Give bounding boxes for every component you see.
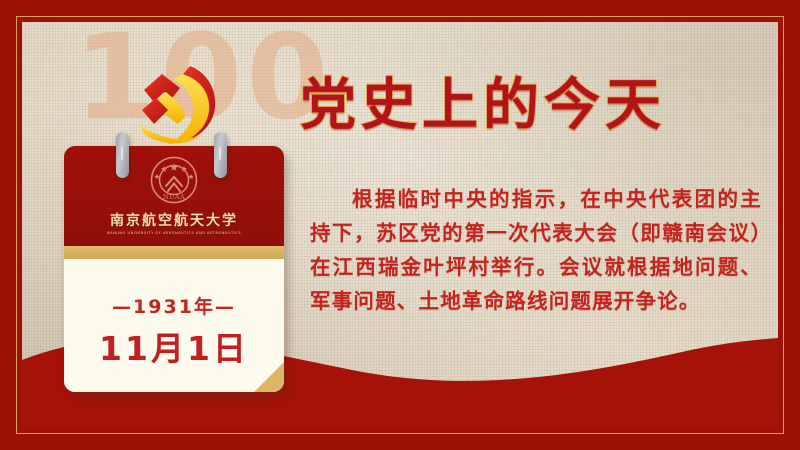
calendar-binder-clip-right <box>214 132 227 178</box>
page-title: 党史上的今天 <box>300 60 666 141</box>
calendar-card: NUAA 南京航空航天大学 NANJING UNIVERSITY OF AERO… <box>64 132 284 394</box>
article-paragraph: 根据临时中央的指示，在中央代表团的主持下，苏区党的第一次代表大会（即赣南会议）在… <box>310 182 762 318</box>
university-name-en: NANJING UNIVERSITY OF AERONAUTICS AND AS… <box>64 231 284 235</box>
svg-text:NUAA: NUAA <box>163 193 185 201</box>
calendar-sheet: NUAA 南京航空航天大学 NANJING UNIVERSITY OF AERO… <box>64 146 284 392</box>
calendar-binder-clip-left <box>116 132 129 178</box>
calendar-gold-divider <box>64 246 284 259</box>
university-name-cn: 南京航空航天大学 <box>64 210 284 230</box>
calendar-month-day: 11月1日 <box>64 322 284 370</box>
calendar-header: NUAA 南京航空航天大学 NANJING UNIVERSITY OF AERO… <box>64 146 284 246</box>
calendar-year: —1931年— <box>64 259 284 319</box>
calendar-corner-fold <box>254 362 284 392</box>
paper-panel: 100 党史上的今天 <box>22 22 778 428</box>
nuaa-university-seal-icon: NUAA <box>149 155 199 205</box>
calendar-date-area: —1931年— 11月1日 <box>64 259 284 392</box>
poster-root: 100 党史上的今天 <box>0 0 800 450</box>
